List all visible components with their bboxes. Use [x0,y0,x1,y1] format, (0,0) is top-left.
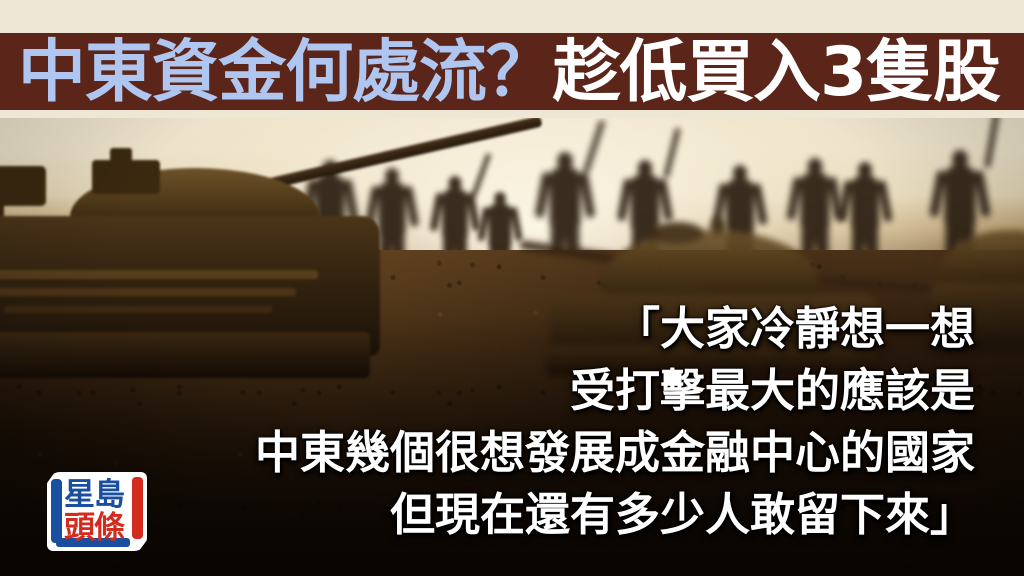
sing-tao-headline-logo[interactable]: 星島 頭條 [47,472,147,551]
logo-frame: 星島 頭條 [47,472,147,551]
logo-bar-right [132,477,143,539]
quote-line-1: 「大家冷靜想一想 [255,298,975,360]
headline-part-a: 中東資金何處流？ [18,33,553,110]
quote-block: 「大家冷靜想一想 受打擊最大的應該是 中東幾個很想發展成金融中心的國家 但現在還… [255,298,975,546]
headline-banner-area: 中東資金何處流？趁低買入3隻股 [0,0,1024,118]
logo-line-1: 星島 [64,480,130,511]
quote-line-3: 中東幾個很想發展成金融中心的國家 [255,422,975,484]
quote-line-2: 受打擊最大的應該是 [255,360,975,422]
headline-banner: 中東資金何處流？趁低買入3隻股 [0,33,1024,110]
logo-line-2: 頭條 [64,513,130,544]
logo-bar-left [51,479,62,543]
quote-line-4: 但現在還有多少人敢留下來」 [255,484,975,546]
logo-wordmark: 星島 頭條 [64,478,130,545]
page-title: 中東資金何處流？趁低買入3隻股 [0,38,1000,106]
headline-part-b: 趁低買入3隻股 [553,33,1000,110]
news-card: 中東資金何處流？趁低買入3隻股 「大家冷靜想一想 受打擊最大的應該是 中東幾個很… [0,0,1024,576]
